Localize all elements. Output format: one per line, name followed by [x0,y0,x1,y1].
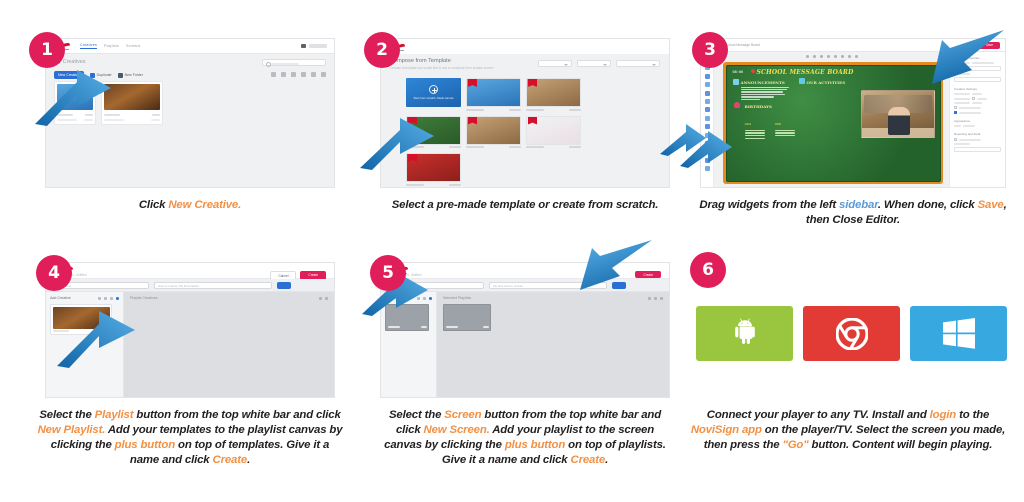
filter-category-select[interactable] [577,60,611,67]
step-cell-4: Playlist Untitled Cancel Create Keyword … [45,262,335,462]
ok-button[interactable] [277,282,291,289]
add-icon[interactable] [116,297,119,300]
blank-card-label: Start from scratch, blank canvas [414,96,454,100]
compose-subheading: Choose a template you would like to use … [390,66,493,70]
editor-creative-name[interactable]: School Message Board [725,43,760,47]
step-cell-6: Connect your player to any TV. Install a… [690,250,1006,462]
board-section-birthdays: BIRTHDAYS [745,104,772,109]
folder-icon [118,73,123,78]
selected-playlist-item[interactable] [443,304,491,331]
share-icon[interactable] [301,72,306,77]
board-title: SCHOOL MESSAGE BOARD [757,69,854,76]
playlist-top-bar: Playlist Untitled Cancel Create [46,263,334,279]
pointer-arrow-topright [910,26,1006,100]
weather-widget-icon[interactable] [705,91,710,96]
playlist-name-input[interactable]: Give it a name, My first playlist [154,282,272,289]
birthday-column-1: 10/23 [745,112,765,141]
pointer-arrow-left [678,130,734,170]
pointer-arrow [55,308,137,372]
clock-widget-icon[interactable] [705,82,710,87]
birthday-columns: 10/23 10/25 [745,112,795,141]
template-card[interactable] [466,116,521,149]
step-cell-5: Screen Untitled Create Search My first s… [380,262,670,462]
pointer-arrow [358,116,436,174]
board-section-activities: OUR ACTIVITIES [807,80,846,85]
view-toolbar[interactable] [271,72,326,77]
view-icon[interactable] [110,297,113,300]
step-caption-1: Click New Creative. [35,198,345,213]
enabled-checkbox[interactable] [954,111,957,114]
heart-icon [734,102,740,108]
template-card-blank[interactable]: Start from scratch, blank canvas [406,78,461,111]
chrome-icon [836,318,868,350]
playlist-thumbnail [446,307,489,325]
monitor-icon [301,44,306,48]
clear-icon[interactable] [660,297,663,300]
birthday-date-1: 10/23 [745,123,752,126]
step-caption-2: Select a pre-made template or create fro… [380,198,670,213]
selected-playlists-canvas[interactable]: Selected Playlists [437,292,669,397]
step-caption-3: Drag widgets from the left sidebar. When… [692,198,1014,228]
audit-field[interactable] [954,147,1001,152]
announcements-text [741,87,789,102]
step-cell-2: Compose from Template Choose a template … [380,38,670,218]
template-card[interactable] [526,78,581,111]
youtube-widget-icon[interactable] [705,116,710,121]
template-badge-icon [528,79,537,87]
sort-icon[interactable] [281,72,286,77]
text-icon[interactable] [311,72,316,77]
step-badge-2: 2 [364,32,400,68]
app-nav-bar: Creatives Playlists Screens [46,39,334,54]
appearance-group: Appearance [954,119,1001,127]
template-card[interactable] [526,116,581,149]
step-caption-6: Connect your player to any TV. Install a… [686,408,1010,453]
blank-canvas-tile[interactable]: Start from scratch, blank canvas [406,78,461,107]
template-card[interactable] [466,78,521,111]
grid-icon[interactable] [855,55,858,58]
photo-student [888,107,910,135]
filter-format-select[interactable] [538,60,572,67]
compose-heading-block: Compose from Template Choose a template … [390,58,493,70]
account-name-label [309,44,327,48]
add-creative-header: Add Creative [50,296,119,300]
playlist-filter-bar: Keyword Give it a name, My first playlis… [46,279,334,292]
video-widget-icon[interactable] [705,74,710,79]
nav-tab-playlists[interactable]: Playlists [104,44,119,49]
plus-icon [429,85,438,94]
step-badge-3: 3 [692,32,728,68]
zoom-out-icon[interactable] [841,55,844,58]
android-tile[interactable] [696,306,793,361]
school-message-board: 08:06 SCHOOL MESSAGE BOARD ANNOUNCEMENTS… [726,65,941,182]
player-platform-tiles [696,306,1007,361]
list-view-icon[interactable] [271,72,276,77]
template-filters[interactable] [538,60,660,67]
birthday-date-2: 10/25 [775,123,782,126]
preview-icon[interactable] [848,55,851,58]
rss-widget-icon[interactable] [705,99,710,104]
step-badge-4: 4 [36,255,72,291]
suggested-duration-checkbox[interactable] [954,106,957,109]
chrome-tile[interactable] [803,306,900,361]
template-thumbnail [466,78,521,107]
table-widget-icon[interactable] [705,107,710,112]
playlist-canvas-header: Playlist Creatives [130,296,328,300]
grid-view-icon[interactable] [321,72,326,77]
windows-icon [943,318,975,349]
search-input[interactable] [262,59,326,66]
activities-icon [799,78,805,84]
nav-account-area[interactable] [301,44,327,48]
redo-icon[interactable] [813,55,816,58]
template-thumbnail [466,116,521,145]
step-badge-5: 5 [370,255,406,291]
step-caption-4: Select the Playlist button from the top … [35,408,345,469]
step-badge-1: 1 [29,32,65,68]
pointer-arrow-topright [560,238,656,304]
layer-icon[interactable] [827,55,830,58]
guide-sheet: Creatives Playlists Screens My Creatives… [0,0,1024,502]
board-clock: 08:06 [733,70,744,74]
playlist-creatives-canvas[interactable]: Playlist Creatives [124,292,334,397]
sort-icon[interactable] [98,297,101,300]
sort-icon[interactable] [319,297,322,300]
template-search-input[interactable] [616,60,660,67]
clear-icon[interactable] [325,297,328,300]
filter-icon[interactable] [104,297,107,300]
undo-icon[interactable] [806,55,809,58]
template-badge-icon [468,79,477,87]
step-caption-5: Select the Screen button from the top wh… [380,408,670,469]
nav-tab-creatives[interactable]: Creatives [80,43,97,49]
step-badge-6: 6 [690,252,726,288]
android-icon [730,318,760,350]
template-thumbnail [526,116,581,145]
nav-tab-screens[interactable]: Screens [126,44,141,49]
step-cell-1: Creatives Playlists Screens My Creatives… [45,38,335,218]
template-thumbnail [526,78,581,107]
step-cell-3: School Message Board Save [700,38,1006,218]
windows-tile[interactable] [910,306,1007,361]
compose-heading: Compose from Template [390,58,493,64]
pointer-arrow [33,68,113,130]
board-section-announcements: ANNOUNCEMENTS [741,80,785,85]
breadcrumb-sub: Untitled [76,273,87,277]
new-folder-button[interactable]: New Folder [118,73,143,78]
audit-checkbox[interactable] [954,138,957,141]
filter-icon[interactable] [291,72,296,77]
template-badge-icon [528,117,537,125]
reporting-group: Reporting and Audit [954,132,1001,152]
apple-icon [751,69,755,73]
app-nav-bar [381,39,669,54]
birthday-column-2: 10/25 [775,112,795,141]
zoom-in-icon[interactable] [834,55,837,58]
template-badge-icon [468,117,477,125]
align-icon[interactable] [820,55,823,58]
announcements-icon [733,79,739,85]
